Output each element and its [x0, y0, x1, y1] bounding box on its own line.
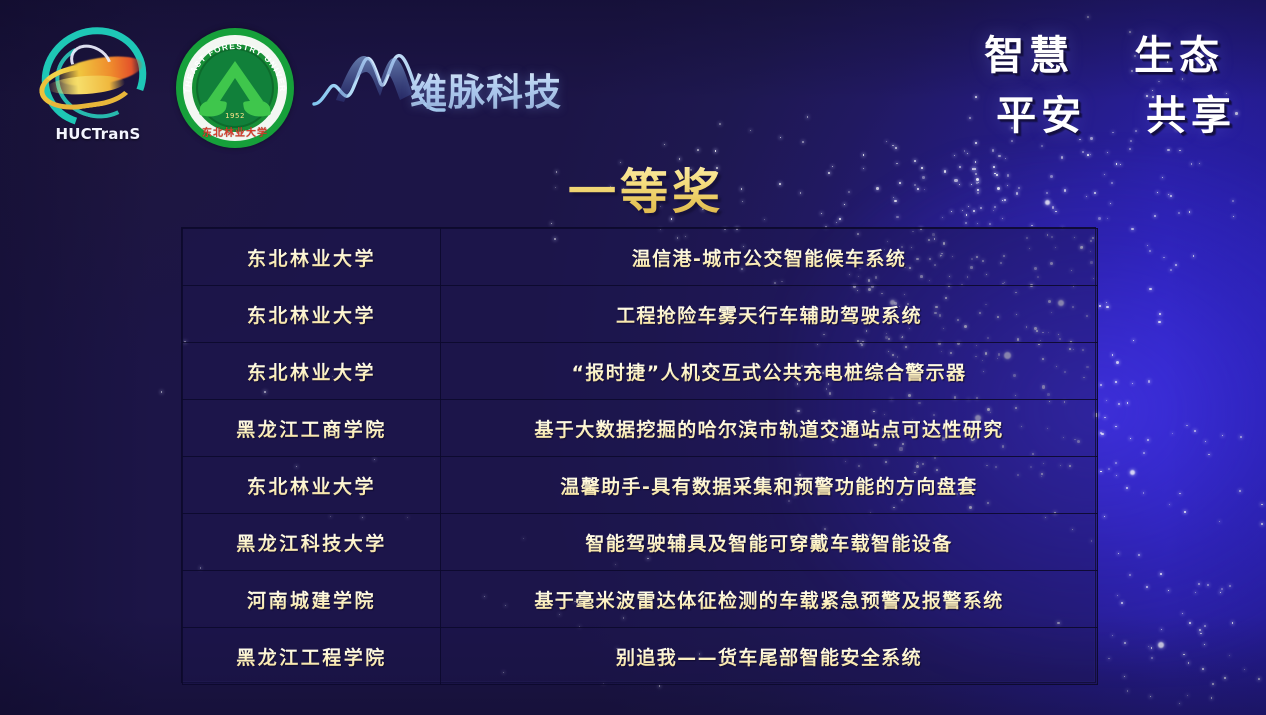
award-institution-text: 东北林业大学 — [247, 476, 376, 498]
award-institution-cell: 东北林业大学 — [183, 343, 441, 400]
award-institution-text: 黑龙江工商学院 — [236, 419, 387, 441]
page-title: 一等奖 — [0, 152, 1266, 222]
event-slogan: 智慧 生态 平安 共享 — [984, 36, 1236, 136]
award-project-text: 别追我——货车尾部智能安全系统 — [616, 647, 922, 669]
table-row: 黑龙江工程学院别追我——货车尾部智能安全系统 — [183, 628, 1098, 685]
award-project-text: 工程抢险车雾天行车辅助驾驶系统 — [616, 305, 922, 327]
table-row: 东北林业大学“报时捷”人机交互式公共充电桩综合警示器 — [183, 343, 1098, 400]
slide-canvas: HUCTranS 1952 NORTHEAST FORESTRY UNIVERS… — [0, 0, 1266, 715]
award-project-cell: 智能驾驶辅具及智能可穿戴车载智能设备 — [441, 514, 1098, 571]
award-project-text: 温信港-城市公交智能候车系统 — [632, 248, 907, 270]
huctrans-logo: HUCTranS — [33, 22, 163, 150]
award-institution-text: 东北林业大学 — [247, 248, 376, 270]
award-institution-text: 河南城建学院 — [247, 590, 376, 612]
slogan-word-gongxiang: 共享 — [1146, 93, 1236, 139]
northeast-forestry-university-logo: 1952 NORTHEAST FORESTRY UNIVERSITY 东北林业大… — [176, 28, 294, 148]
weimai-wordmark: 维脉科技 — [410, 62, 562, 116]
award-project-text: 基于毫米波雷达体征检测的车载紧急预警及报警系统 — [534, 590, 1003, 612]
award-institution-cell: 东北林业大学 — [183, 457, 441, 514]
award-institution-cell: 黑龙江科技大学 — [183, 514, 441, 571]
table-row: 东北林业大学温信港-城市公交智能候车系统 — [183, 229, 1098, 286]
weimai-technology-logo: 维脉科技 — [312, 38, 562, 130]
award-project-text: 基于大数据挖掘的哈尔滨市轨道交通站点可达性研究 — [534, 419, 1003, 441]
award-project-cell: 温信港-城市公交智能候车系统 — [441, 229, 1098, 286]
slogan-word-zhihui: 智慧 — [984, 33, 1074, 79]
award-institution-text: 黑龙江科技大学 — [236, 533, 387, 555]
table-row: 黑龙江科技大学智能驾驶辅具及智能可穿戴车载智能设备 — [183, 514, 1098, 571]
award-institution-text: 东北林业大学 — [247, 362, 376, 384]
slogan-line-2: 平安 共享 — [984, 96, 1236, 136]
slogan-word-shengtai: 生态 — [1134, 33, 1224, 79]
award-project-cell: 温馨助手-具有数据采集和预警功能的方向盘套 — [441, 457, 1098, 514]
award-institution-cell: 黑龙江工程学院 — [183, 628, 441, 685]
award-project-cell: 别追我——货车尾部智能安全系统 — [441, 628, 1098, 685]
huctrans-wordmark: HUCTranS — [33, 125, 163, 143]
table-row: 东北林业大学温馨助手-具有数据采集和预警功能的方向盘套 — [183, 457, 1098, 514]
table-row: 东北林业大学工程抢险车雾天行车辅助驾驶系统 — [183, 286, 1098, 343]
award-project-text: 智能驾驶辅具及智能可穿戴车载智能设备 — [585, 533, 952, 555]
award-institution-text: 黑龙江工程学院 — [236, 647, 387, 669]
award-project-cell: 工程抢险车雾天行车辅助驾驶系统 — [441, 286, 1098, 343]
award-project-text: “报时捷”人机交互式公共充电桩综合警示器 — [572, 362, 967, 384]
award-project-cell: 基于大数据挖掘的哈尔滨市轨道交通站点可达性研究 — [441, 400, 1098, 457]
slogan-line-1: 智慧 生态 — [984, 36, 1236, 76]
awards-table-body: 东北林业大学温信港-城市公交智能候车系统东北林业大学工程抢险车雾天行车辅助驾驶系… — [183, 229, 1098, 685]
award-institution-cell: 黑龙江工商学院 — [183, 400, 441, 457]
award-project-text: 温馨助手-具有数据采集和预警功能的方向盘套 — [560, 476, 977, 498]
award-institution-text: 东北林业大学 — [247, 305, 376, 327]
table-row: 河南城建学院基于毫米波雷达体征检测的车载紧急预警及报警系统 — [183, 571, 1098, 628]
award-project-cell: 基于毫米波雷达体征检测的车载紧急预警及报警系统 — [441, 571, 1098, 628]
table-row: 黑龙江工商学院基于大数据挖掘的哈尔滨市轨道交通站点可达性研究 — [183, 400, 1098, 457]
award-institution-cell: 河南城建学院 — [183, 571, 441, 628]
awards-table: 东北林业大学温信港-城市公交智能候车系统东北林业大学工程抢险车雾天行车辅助驾驶系… — [182, 228, 1098, 685]
nefu-chinese-name: 东北林业大学 — [176, 129, 294, 139]
award-project-cell: “报时捷”人机交互式公共充电桩综合警示器 — [441, 343, 1098, 400]
awards-table-container: 东北林业大学温信港-城市公交智能候车系统东北林业大学工程抢险车雾天行车辅助驾驶系… — [181, 227, 1096, 683]
page-title-text: 一等奖 — [542, 152, 724, 222]
slogan-word-pingan: 平安 — [996, 93, 1086, 139]
award-institution-cell: 东北林业大学 — [183, 286, 441, 343]
award-institution-cell: 东北林业大学 — [183, 229, 441, 286]
svg-text:NORTHEAST FORESTRY UNIVERSITY: NORTHEAST FORESTRY UNIVERSITY — [176, 28, 288, 94]
